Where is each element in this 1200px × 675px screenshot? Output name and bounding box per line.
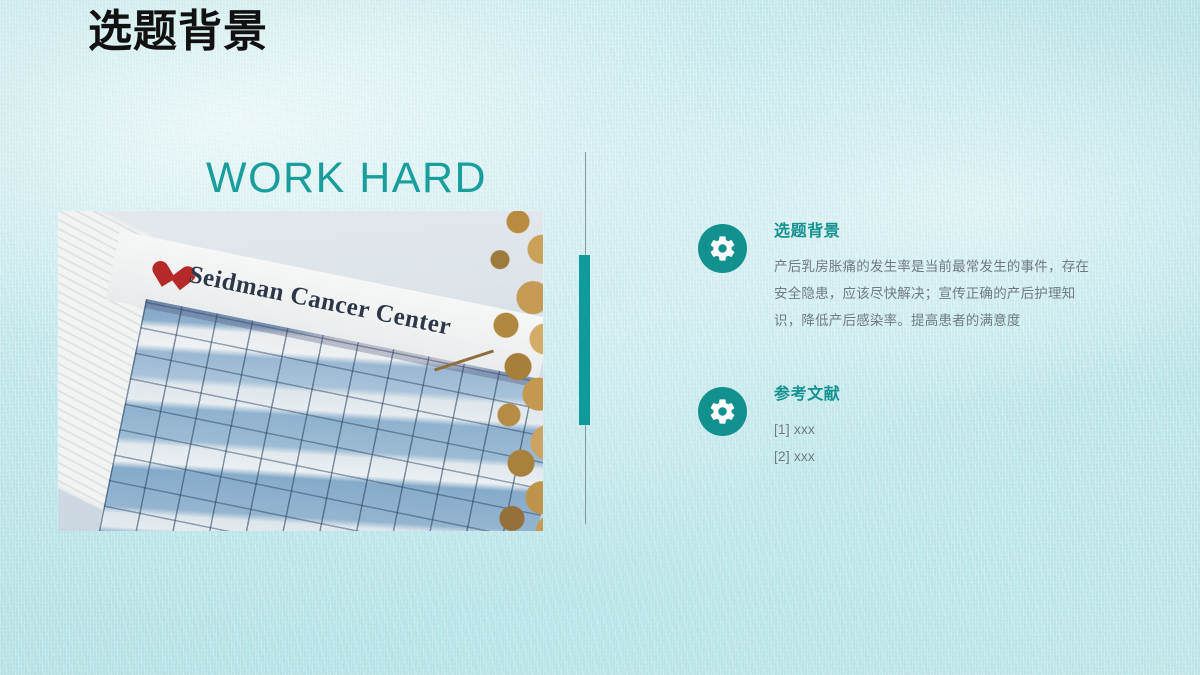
reference-item: [1] xxx xyxy=(774,416,840,443)
reference-item: [2] xxx xyxy=(774,443,840,470)
gear-icon xyxy=(698,387,747,436)
work-hard-headline: WORK HARD xyxy=(206,154,487,203)
vertical-divider-accent-bar xyxy=(579,255,590,425)
page-title: 选题背景 xyxy=(88,8,268,56)
content-block-references: 参考文献 [1] xxx [2] xxx xyxy=(698,385,840,470)
block-heading: 参考文献 xyxy=(774,385,840,404)
block-body-text: 产后乳房胀痛的发生率是当前最常发生的事件，存在安全隐患，应该尽快解决；宣传正确的… xyxy=(774,253,1096,334)
content-block-text: 参考文献 [1] xxx [2] xxx xyxy=(774,385,840,470)
building-photo: Seidman Cancer Center xyxy=(58,211,543,531)
content-block-text: 选题背景 产后乳房胀痛的发生率是当前最常发生的事件，存在安全隐患，应该尽快解决；… xyxy=(774,222,1096,334)
gear-icon xyxy=(698,224,747,273)
slide-canvas: 选题背景 WORK HARD Seidman Cancer Center 选题背… xyxy=(0,0,1200,675)
content-block-background: 选题背景 产后乳房胀痛的发生率是当前最常发生的事件，存在安全隐患，应该尽快解决；… xyxy=(698,222,1096,334)
photo-tree-foliage xyxy=(407,211,543,531)
block-heading: 选题背景 xyxy=(774,222,1096,241)
